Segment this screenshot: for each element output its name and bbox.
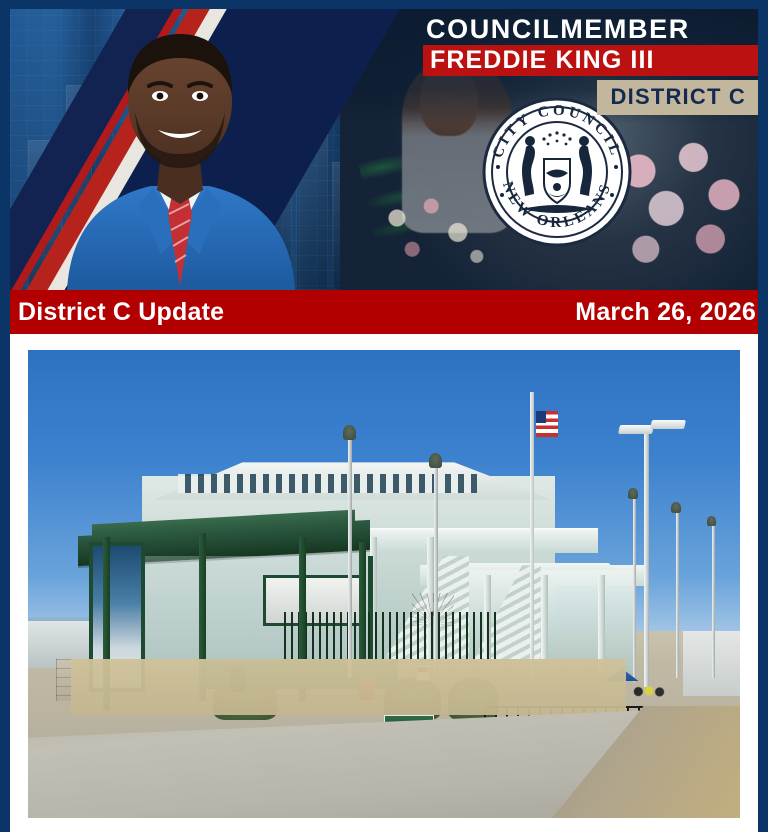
lamp-head-2 (429, 453, 442, 468)
sandy-verge (71, 659, 626, 715)
stadium-light-head-right (650, 420, 686, 429)
lamp-post-2 (434, 462, 438, 677)
flag-pole (530, 392, 534, 682)
district-badge: DISTRICT C (597, 80, 758, 115)
councilmember-portrait (65, 18, 295, 290)
feature-photo-container (10, 334, 758, 832)
councilmember-name: FREDDIE KING III (423, 46, 655, 75)
header-banner: CITY COUNCIL NEW ORLEANS (10, 0, 758, 290)
lamp-head-5 (707, 516, 716, 526)
shelter-rear-railing (284, 612, 498, 659)
lamp-head-3 (628, 488, 638, 499)
lamp-post-4 (676, 509, 679, 677)
page-title: District C Update (18, 298, 224, 327)
american-flag (536, 411, 558, 437)
lamp-post-5 (712, 523, 715, 677)
stadium-light-head-left (618, 425, 654, 434)
pedestrians (633, 682, 671, 698)
district-badge-label: DISTRICT C (611, 84, 746, 109)
stadium-light-mast (644, 425, 649, 687)
lamp-post-3 (633, 495, 636, 682)
terminal-clerestory-windows (178, 474, 477, 493)
feature-photo (28, 350, 740, 818)
newsletter-page: CITY COUNCIL NEW ORLEANS (0, 0, 768, 832)
lamp-post-1 (348, 434, 352, 677)
update-title-bar: District C Update March 26, 2026 (10, 290, 758, 334)
lamp-head-1 (343, 425, 356, 440)
city-council-seal-icon: CITY COUNCIL NEW ORLEANS (482, 97, 632, 247)
header-top-rule (10, 0, 758, 9)
issue-date: March 26, 2026 (575, 298, 756, 327)
terminal-upper-canopy (356, 528, 598, 553)
councilmember-name-bar: FREDDIE KING III (423, 45, 758, 76)
councilmember-label: COUNCILMEMBER (426, 14, 690, 45)
lamp-head-4 (671, 502, 681, 513)
